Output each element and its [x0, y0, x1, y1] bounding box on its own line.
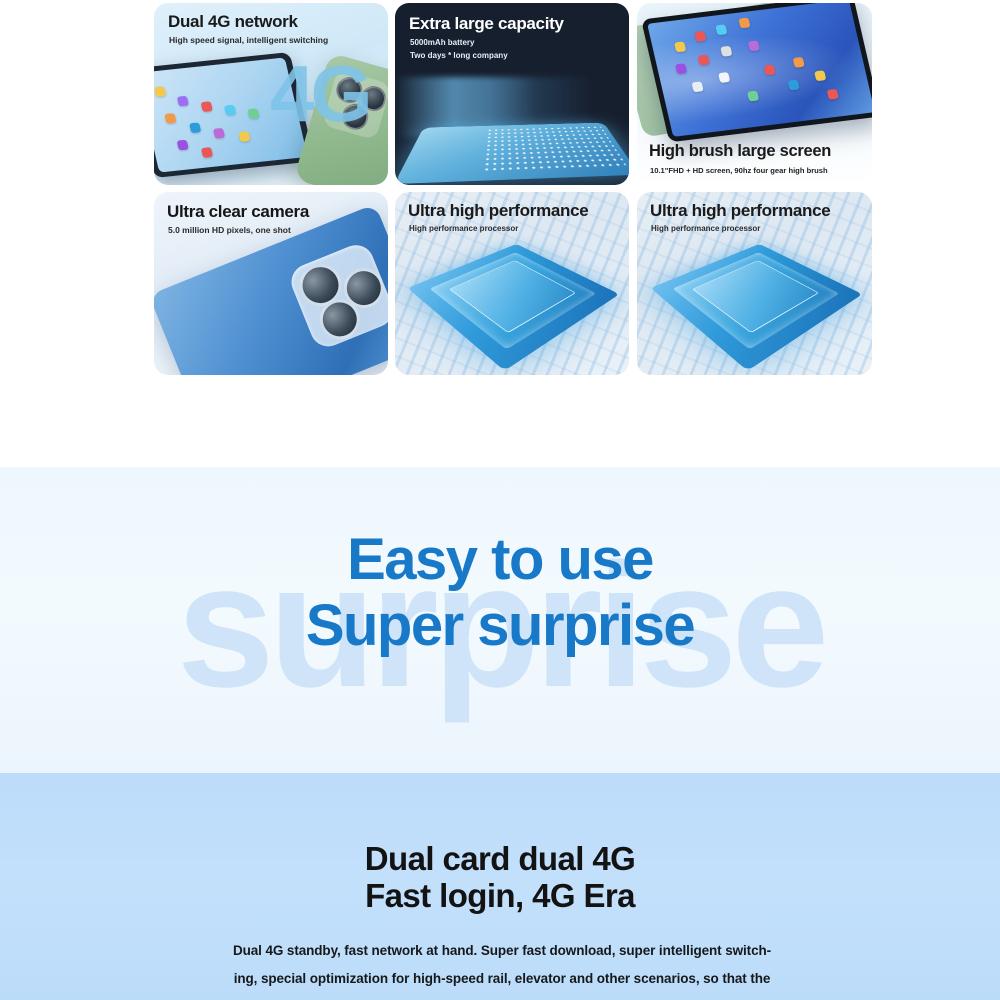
feature-card-title: High brush large screen — [649, 143, 831, 160]
tablet-screen — [647, 3, 872, 137]
hero-headline: Easy to use Super surprise — [0, 527, 1000, 659]
hero-headline-line2: Super surprise — [0, 593, 1000, 659]
section-title-line1: Dual card dual 4G — [365, 840, 635, 877]
feature-card-extra-large-capacity[interactable]: Extra large capacity 5000mAh battery Two… — [395, 3, 629, 185]
feature-card-subtitle-line1: 5000mAh battery — [410, 39, 474, 48]
feature-card-subtitle-line2: Two days * long company — [410, 52, 508, 61]
feature-card-ultra-high-performance-2[interactable]: Ultra high performance High performance … — [637, 192, 872, 375]
feature-card-subtitle: High speed signal, intelligent switching — [169, 36, 328, 45]
section-body-text: Dual 4G standby, fast network at hand. S… — [228, 937, 776, 992]
section-body-line2: ing, special optimization for high-speed… — [228, 965, 776, 993]
feature-grid-section: 4G Dual 4G network High speed signal, in… — [0, 0, 1000, 467]
feature-card-ultra-high-performance-1[interactable]: Ultra high performance High performance … — [395, 192, 629, 375]
section-body-line1: Dual 4G standby, fast network at hand. S… — [228, 937, 776, 965]
feature-card-title: Ultra high performance — [650, 202, 830, 220]
battery-illustration — [395, 123, 629, 184]
battery-cell-grid — [482, 125, 627, 172]
chip-core — [691, 260, 818, 333]
four-g-watermark: 4G — [270, 61, 369, 127]
chip-core — [449, 260, 576, 333]
feature-card-ultra-clear-camera[interactable]: Ultra clear camera 5.0 million HD pixels… — [154, 192, 388, 375]
feature-card-subtitle: 5.0 million HD pixels, one shot — [168, 226, 291, 235]
section-title-line2: Fast login, 4G Era — [0, 878, 1000, 915]
feature-card-title: Dual 4G network — [168, 13, 298, 31]
product-detail-page: 4G Dual 4G network High speed signal, in… — [0, 0, 1000, 1000]
camera-plate — [286, 240, 388, 352]
feature-card-high-brush-large-screen[interactable]: High brush large screen 10.1"FHD + HD sc… — [637, 3, 872, 185]
section-title: Dual card dual 4G Fast login, 4G Era — [0, 841, 1000, 915]
feature-card-dual-4g-network[interactable]: 4G Dual 4G network High speed signal, in… — [154, 3, 388, 185]
dual-card-section: Dual card dual 4G Fast login, 4G Era Dua… — [0, 773, 1000, 1000]
hero-banner-section: surprise Easy to use Super surprise — [0, 467, 1000, 773]
feature-card-title: Ultra clear camera — [167, 203, 309, 221]
feature-card-title: Ultra high performance — [408, 202, 588, 220]
feature-card-title: Extra large capacity — [409, 15, 564, 33]
feature-card-subtitle: 10.1"FHD + HD screen, 90hz four gear hig… — [650, 167, 828, 175]
tablet-device-illustration — [641, 3, 872, 142]
hero-headline-line1: Easy to use — [347, 527, 653, 592]
feature-card-subtitle: High performance processor — [651, 225, 760, 234]
feature-card-subtitle: High performance processor — [409, 225, 518, 234]
